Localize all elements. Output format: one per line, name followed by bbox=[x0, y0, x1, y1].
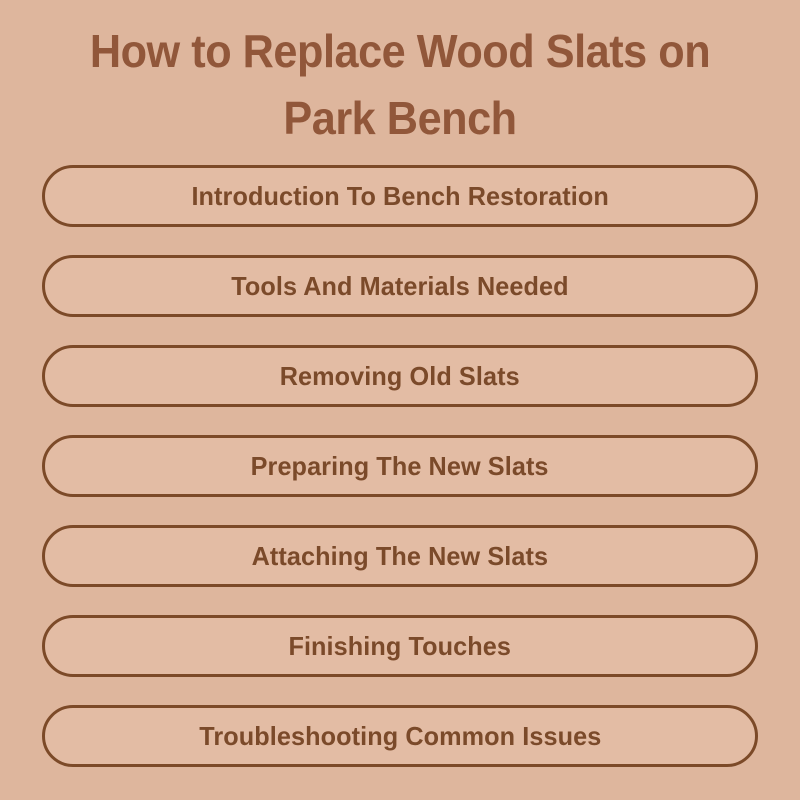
section-label: Attaching The New Slats bbox=[252, 541, 549, 572]
section-label: Finishing Touches bbox=[289, 631, 512, 662]
section-label: Introduction To Bench Restoration bbox=[191, 181, 608, 212]
section-item-tools-and-materials-needed[interactable]: Tools And Materials Needed bbox=[42, 255, 758, 317]
section-item-removing-old-slats[interactable]: Removing Old Slats bbox=[42, 345, 758, 407]
page-title: How to Replace Wood Slats on Park Bench bbox=[43, 0, 757, 151]
section-item-introduction-to-bench-restoration[interactable]: Introduction To Bench Restoration bbox=[42, 165, 758, 227]
section-label: Removing Old Slats bbox=[280, 361, 520, 392]
section-label: Troubleshooting Common Issues bbox=[199, 721, 601, 752]
section-item-finishing-touches[interactable]: Finishing Touches bbox=[42, 615, 758, 677]
section-item-troubleshooting-common-issues[interactable]: Troubleshooting Common Issues bbox=[42, 705, 758, 767]
section-list: Introduction To Bench Restoration Tools … bbox=[42, 165, 758, 767]
section-label: Preparing The New Slats bbox=[251, 451, 549, 482]
section-label: Tools And Materials Needed bbox=[231, 271, 568, 302]
section-item-attaching-the-new-slats[interactable]: Attaching The New Slats bbox=[42, 525, 758, 587]
section-item-preparing-the-new-slats[interactable]: Preparing The New Slats bbox=[42, 435, 758, 497]
infographic-root: How to Replace Wood Slats on Park Bench … bbox=[0, 0, 800, 800]
